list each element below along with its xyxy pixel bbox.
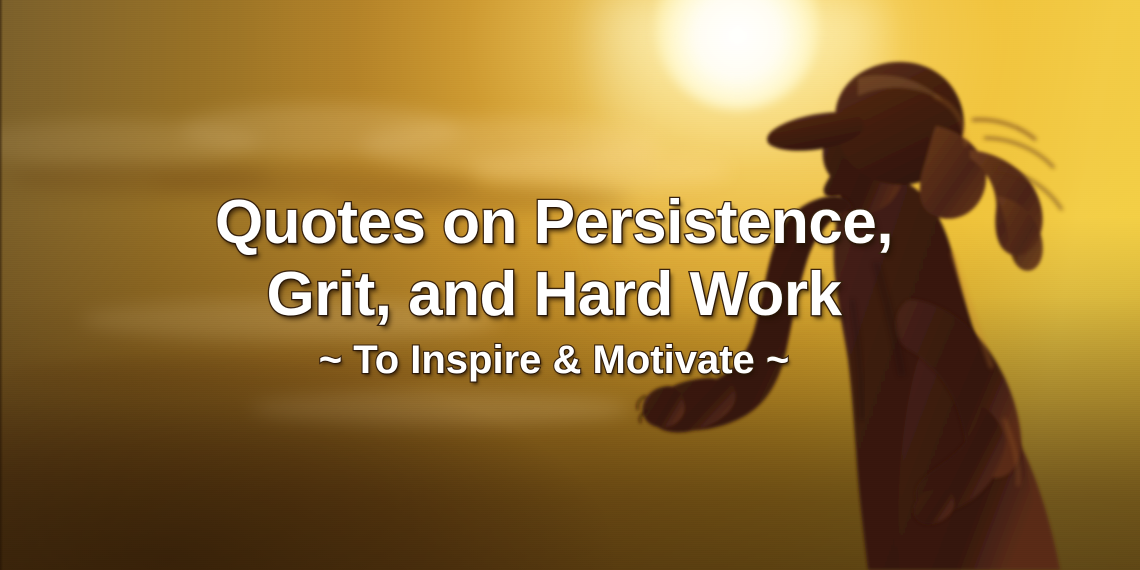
left-border-line — [0, 0, 3, 570]
film-grain-overlay — [0, 0, 1140, 570]
sunset-runner-title-card: Quotes on Persistence, Grit, and Hard Wo… — [0, 0, 1140, 570]
